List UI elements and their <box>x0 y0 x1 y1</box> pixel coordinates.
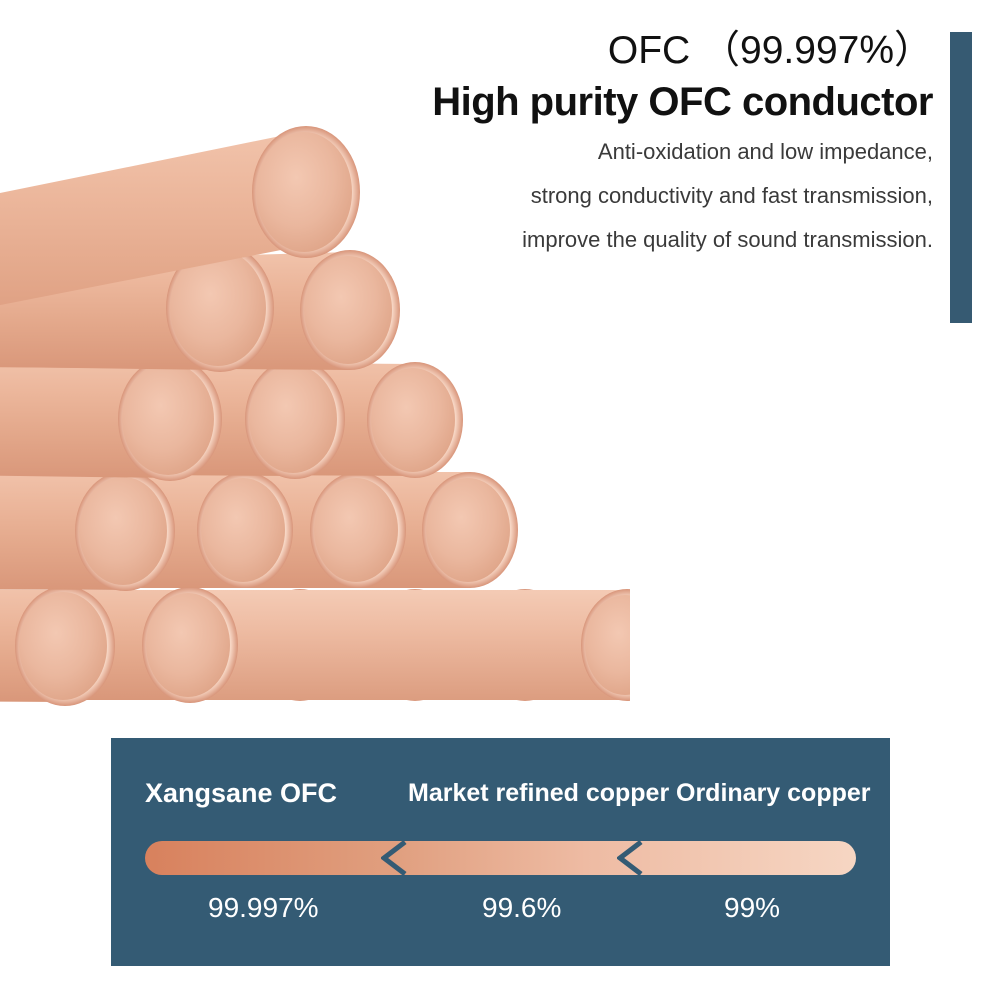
accent-vertical-bar <box>950 32 972 323</box>
comparison-label-0: Xangsane OFC <box>145 776 337 810</box>
poster-canvas: OFC （99.997%） High purity OFC conductor … <box>0 0 1000 1000</box>
purity-comparison-panel: Xangsane OFC Market refined copper Ordin… <box>111 738 890 966</box>
chevron-divider-1 <box>381 841 407 875</box>
comparison-values: 99.997% 99.6% 99% <box>111 890 890 926</box>
comparison-value-0: 99.997% <box>208 890 319 926</box>
rod-row-4 <box>0 470 518 591</box>
comparison-label-1: Market refined copper <box>408 776 669 810</box>
comparison-labels: Xangsane OFC Market refined copper Ordin… <box>111 776 890 810</box>
chevron-divider-2 <box>617 841 643 875</box>
gradient-bar-fill <box>145 841 856 875</box>
description-line-2: strong conductivity and fast transmissio… <box>400 185 955 207</box>
rod-row-3 <box>0 356 463 481</box>
comparison-value-1: 99.6% <box>482 890 561 926</box>
rod-row-bottom <box>0 586 630 706</box>
comparison-label-2: Ordinary copper <box>676 776 871 810</box>
purity-gradient-bar <box>145 841 856 875</box>
description-line-3: improve the quality of sound transmissio… <box>400 229 955 251</box>
headline-block: OFC （99.997%） High purity OFC conductor … <box>400 30 955 273</box>
description-line-1: Anti-oxidation and low impedance, <box>400 141 955 163</box>
eyebrow-title: OFC （99.997%） <box>400 30 955 73</box>
comparison-value-2: 99% <box>724 890 780 926</box>
page-title: High purity OFC conductor <box>400 79 955 125</box>
